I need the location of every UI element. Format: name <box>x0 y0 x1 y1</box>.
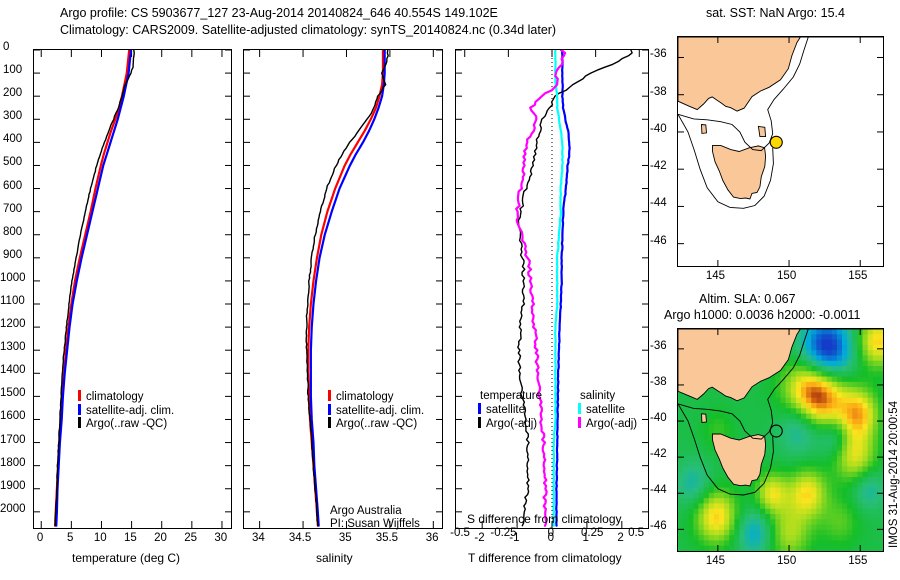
axis-tick-label: 1000 <box>0 272 26 284</box>
axis-tick-label: 15 <box>124 532 137 544</box>
axis-tick-label: 0.25 <box>581 527 603 539</box>
landmass <box>702 125 707 134</box>
axis-tick-label: -2 <box>474 532 484 544</box>
axis-tick-label: 900 <box>3 249 22 261</box>
legend-label-argo-raw: Argo(..raw -QC) <box>336 418 417 430</box>
axis-tick-label: -46 <box>650 520 667 532</box>
legend-label-s-satellite: satellite <box>586 404 625 416</box>
profile-line <box>306 50 388 526</box>
axis-tick-label: 1100 <box>0 295 25 307</box>
difference-plot-area <box>456 50 648 528</box>
axis-tick-label: 200 <box>3 87 22 99</box>
axis-tick-label: -46 <box>650 235 667 247</box>
temperature-axis-label: temperature (deg C) <box>72 551 180 565</box>
sst-map-title: sat. SST: NaN Argo: 15.4 <box>706 6 845 20</box>
axis-tick-label: 300 <box>3 110 22 122</box>
credit-program: Argo Australia <box>330 505 402 517</box>
legend-swatch-s-satellite <box>578 403 581 414</box>
axis-tick-label: 35 <box>339 532 352 544</box>
legend-swatch-t-satellite <box>478 403 481 414</box>
legend-difference-salinity: salinity satellite Argo(-adj) <box>578 390 637 429</box>
axis-tick-label: 700 <box>3 203 22 215</box>
axis-tick-label: 0 <box>548 527 554 539</box>
axis-tick-label: 0 <box>37 532 43 544</box>
difference-bottom-axis-label: T difference from climatology <box>468 551 622 565</box>
axis-tick-label: 34 <box>252 532 265 544</box>
legend-swatch-climatology <box>328 390 331 401</box>
credit-pi: PI: Susan Wijffels <box>330 518 420 530</box>
axis-tick-label: 36 <box>426 532 439 544</box>
difference-top-axis-label: S difference from climatology <box>467 512 622 526</box>
axis-tick-label: 0 <box>3 41 9 53</box>
axis-tick-label: 145 <box>706 270 725 282</box>
legend-temperature: climatology satellite-adj. clim. Argo(..… <box>78 389 174 430</box>
sst-map-canvas <box>678 37 883 266</box>
axis-tick-label: 35.5 <box>376 532 398 544</box>
legend-swatch-satellite-adj <box>328 404 331 415</box>
axis-tick-label: 10 <box>94 532 107 544</box>
axis-tick-label: -36 <box>650 340 667 352</box>
axis-tick-label: 100 <box>3 64 22 76</box>
sla-map-title-line-2: Argo h1000: 0.0036 h2000: -0.0011 <box>664 308 860 322</box>
axis-tick-label: 1300 <box>0 341 26 353</box>
legend-swatch-t-argo-adj <box>478 417 481 428</box>
axis-tick-label: 500 <box>3 156 22 168</box>
profile-line <box>311 50 385 526</box>
axis-tick-label: -0.5 <box>450 527 470 539</box>
axis-tick-label: -44 <box>650 484 667 496</box>
sla-map-canvas <box>678 329 883 551</box>
panel-salinity <box>243 49 443 529</box>
figure-root: Argo profile: CS 5903677_127 23-Aug-2014… <box>0 0 900 580</box>
legend-label-satellite-adj: satellite-adj. clim. <box>336 405 424 417</box>
axis-tick-label: 2 <box>617 532 623 544</box>
axis-tick-label: 0.5 <box>628 527 644 539</box>
imos-timestamp-wrapper: IMOS 31-Aug-2014 20:00:54 <box>888 548 900 560</box>
legend-label-t-argo-adj: Argo(-adj) <box>486 418 537 430</box>
axis-tick-label: 1500 <box>0 387 26 399</box>
legend-label-climatology: climatology <box>86 391 144 403</box>
legend-swatch-argo-raw <box>78 417 81 428</box>
axis-tick-label: -40 <box>650 123 667 135</box>
legend-swatch-climatology <box>78 390 81 401</box>
axis-tick-label: 1600 <box>0 410 26 422</box>
landmass <box>702 414 707 423</box>
legend-label-s-argo-adj: Argo(-adj) <box>586 418 637 430</box>
legend-salinity: climatology satellite-adj. clim. Argo(..… <box>328 389 424 430</box>
imos-timestamp: IMOS 31-Aug-2014 20:00:54 <box>888 401 900 548</box>
panel-difference <box>455 49 649 529</box>
axis-tick-label: -38 <box>650 376 667 388</box>
axis-tick-label: 150 <box>777 270 796 282</box>
temperature-plot-area <box>34 50 231 528</box>
salinity-plot-area <box>244 50 442 528</box>
legend-group-title-temperature: temperature <box>480 390 542 402</box>
axis-tick-label: -44 <box>650 197 667 209</box>
axis-tick-label: 1800 <box>0 457 26 469</box>
axis-tick-label: -42 <box>650 448 667 460</box>
legend-label-satellite-adj: satellite-adj. clim. <box>86 405 174 417</box>
axis-tick-label: 34.5 <box>289 532 311 544</box>
salinity-axis-label: salinity <box>316 551 353 565</box>
axis-tick-label: 30 <box>214 532 227 544</box>
argo-profile-marker[interactable] <box>770 136 782 148</box>
profile-line <box>56 50 131 526</box>
profile-line <box>55 50 134 526</box>
legend-swatch-s-argo-adj <box>578 417 581 428</box>
legend-swatch-argo-raw <box>328 417 331 428</box>
sla-map-title-line-1: Altim. SLA: 0.067 <box>699 292 796 306</box>
panel-temperature <box>33 49 232 529</box>
axis-tick-label: 1200 <box>0 318 26 330</box>
legend-label-argo-raw: Argo(..raw -QC) <box>86 418 167 430</box>
axis-tick-label: 25 <box>184 532 197 544</box>
axis-tick-label: 155 <box>848 555 867 567</box>
map-sla <box>677 328 884 552</box>
axis-tick-label: -0.25 <box>490 527 516 539</box>
axis-tick-label: 20 <box>154 532 167 544</box>
axis-tick-label: -40 <box>650 412 667 424</box>
legend-label-climatology: climatology <box>336 391 394 403</box>
axis-tick-label: 5 <box>67 532 73 544</box>
axis-tick-label: 155 <box>848 270 867 282</box>
axis-tick-label: 145 <box>706 555 725 567</box>
header-line-1: Argo profile: CS 5903677_127 23-Aug-2014… <box>60 6 498 20</box>
axis-tick-label: 600 <box>3 180 22 192</box>
axis-tick-label: 1700 <box>0 434 26 446</box>
legend-label-t-satellite: satellite <box>486 404 525 416</box>
axis-tick-label: 1400 <box>0 364 26 376</box>
axis-tick-label: 2000 <box>0 503 26 515</box>
profile-line <box>308 50 383 526</box>
axis-tick-label: 150 <box>777 555 796 567</box>
axis-tick-label: 1900 <box>0 480 26 492</box>
axis-tick-label: -38 <box>650 86 667 98</box>
legend-difference-temperature: temperature satellite Argo(-adj) <box>478 390 542 429</box>
axis-tick-label: 800 <box>3 226 22 238</box>
landmass <box>758 126 765 136</box>
axis-tick-label: -36 <box>650 48 667 60</box>
header-line-2: Climatology: CARS2009. Satellite-adjuste… <box>60 23 556 37</box>
legend-group-title-salinity: salinity <box>580 390 637 402</box>
axis-tick-label: 400 <box>3 133 22 145</box>
map-sst <box>677 36 884 267</box>
legend-swatch-satellite-adj <box>78 404 81 415</box>
axis-tick-label: -42 <box>650 160 667 172</box>
